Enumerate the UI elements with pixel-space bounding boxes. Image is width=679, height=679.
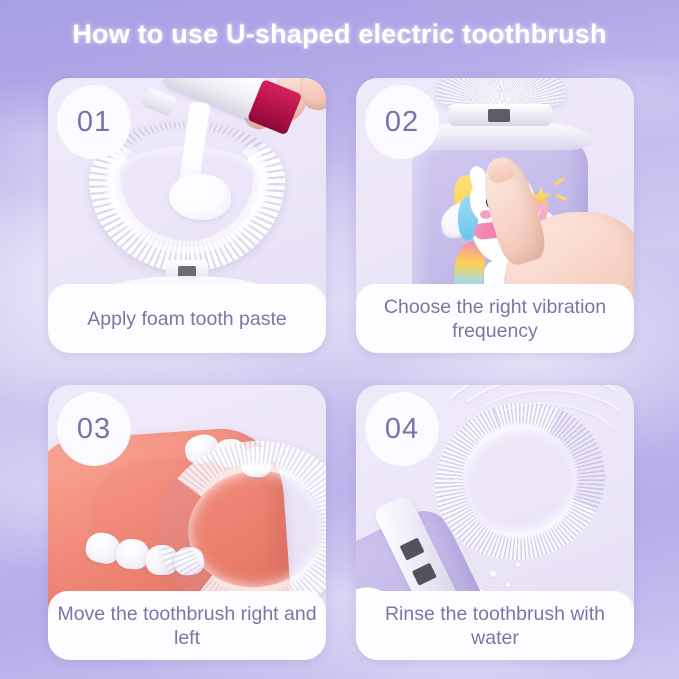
step-caption-01: Apply foam tooth paste [48, 284, 326, 353]
step-card-04[interactable]: 04 Rinse the toothbrush with water [356, 385, 634, 660]
step-caption-text: Apply foam tooth paste [81, 307, 292, 331]
step-number-text: 01 [77, 106, 111, 139]
step-caption-text: Rinse the toothbrush with water [356, 602, 634, 650]
step-card-01[interactable]: 01 Apply foam tooth paste [48, 78, 326, 353]
step-caption-03: Move the toothbrush right and left [48, 591, 326, 660]
step-number-badge-04: 04 [365, 392, 439, 466]
step-card-02[interactable]: 02 Choose the right vibration frequency [356, 78, 634, 353]
toothpaste-foam-blob [169, 174, 231, 220]
step-number-badge-01: 01 [57, 85, 131, 159]
step-caption-text: Choose the right vibration frequency [356, 295, 634, 343]
toothpaste-nozzle [141, 87, 176, 117]
step-number-badge-03: 03 [57, 392, 131, 466]
step-caption-text: Move the toothbrush right and left [48, 602, 326, 650]
step-caption-04: Rinse the toothbrush with water [356, 591, 634, 660]
step-caption-02: Choose the right vibration frequency [356, 284, 634, 353]
step-card-03[interactable]: 03 Move the toothbrush right and left [48, 385, 326, 660]
step-number-text: 02 [385, 106, 419, 139]
brush-neck-connector [448, 104, 552, 126]
toothpaste-tube [162, 78, 278, 125]
step-number-badge-02: 02 [365, 85, 439, 159]
steps-grid: 01 Apply foam tooth paste [48, 78, 633, 660]
step-number-text: 03 [77, 413, 111, 446]
page-title: How to use U-shaped electric toothbrush [0, 19, 679, 50]
step-number-text: 04 [385, 413, 419, 446]
